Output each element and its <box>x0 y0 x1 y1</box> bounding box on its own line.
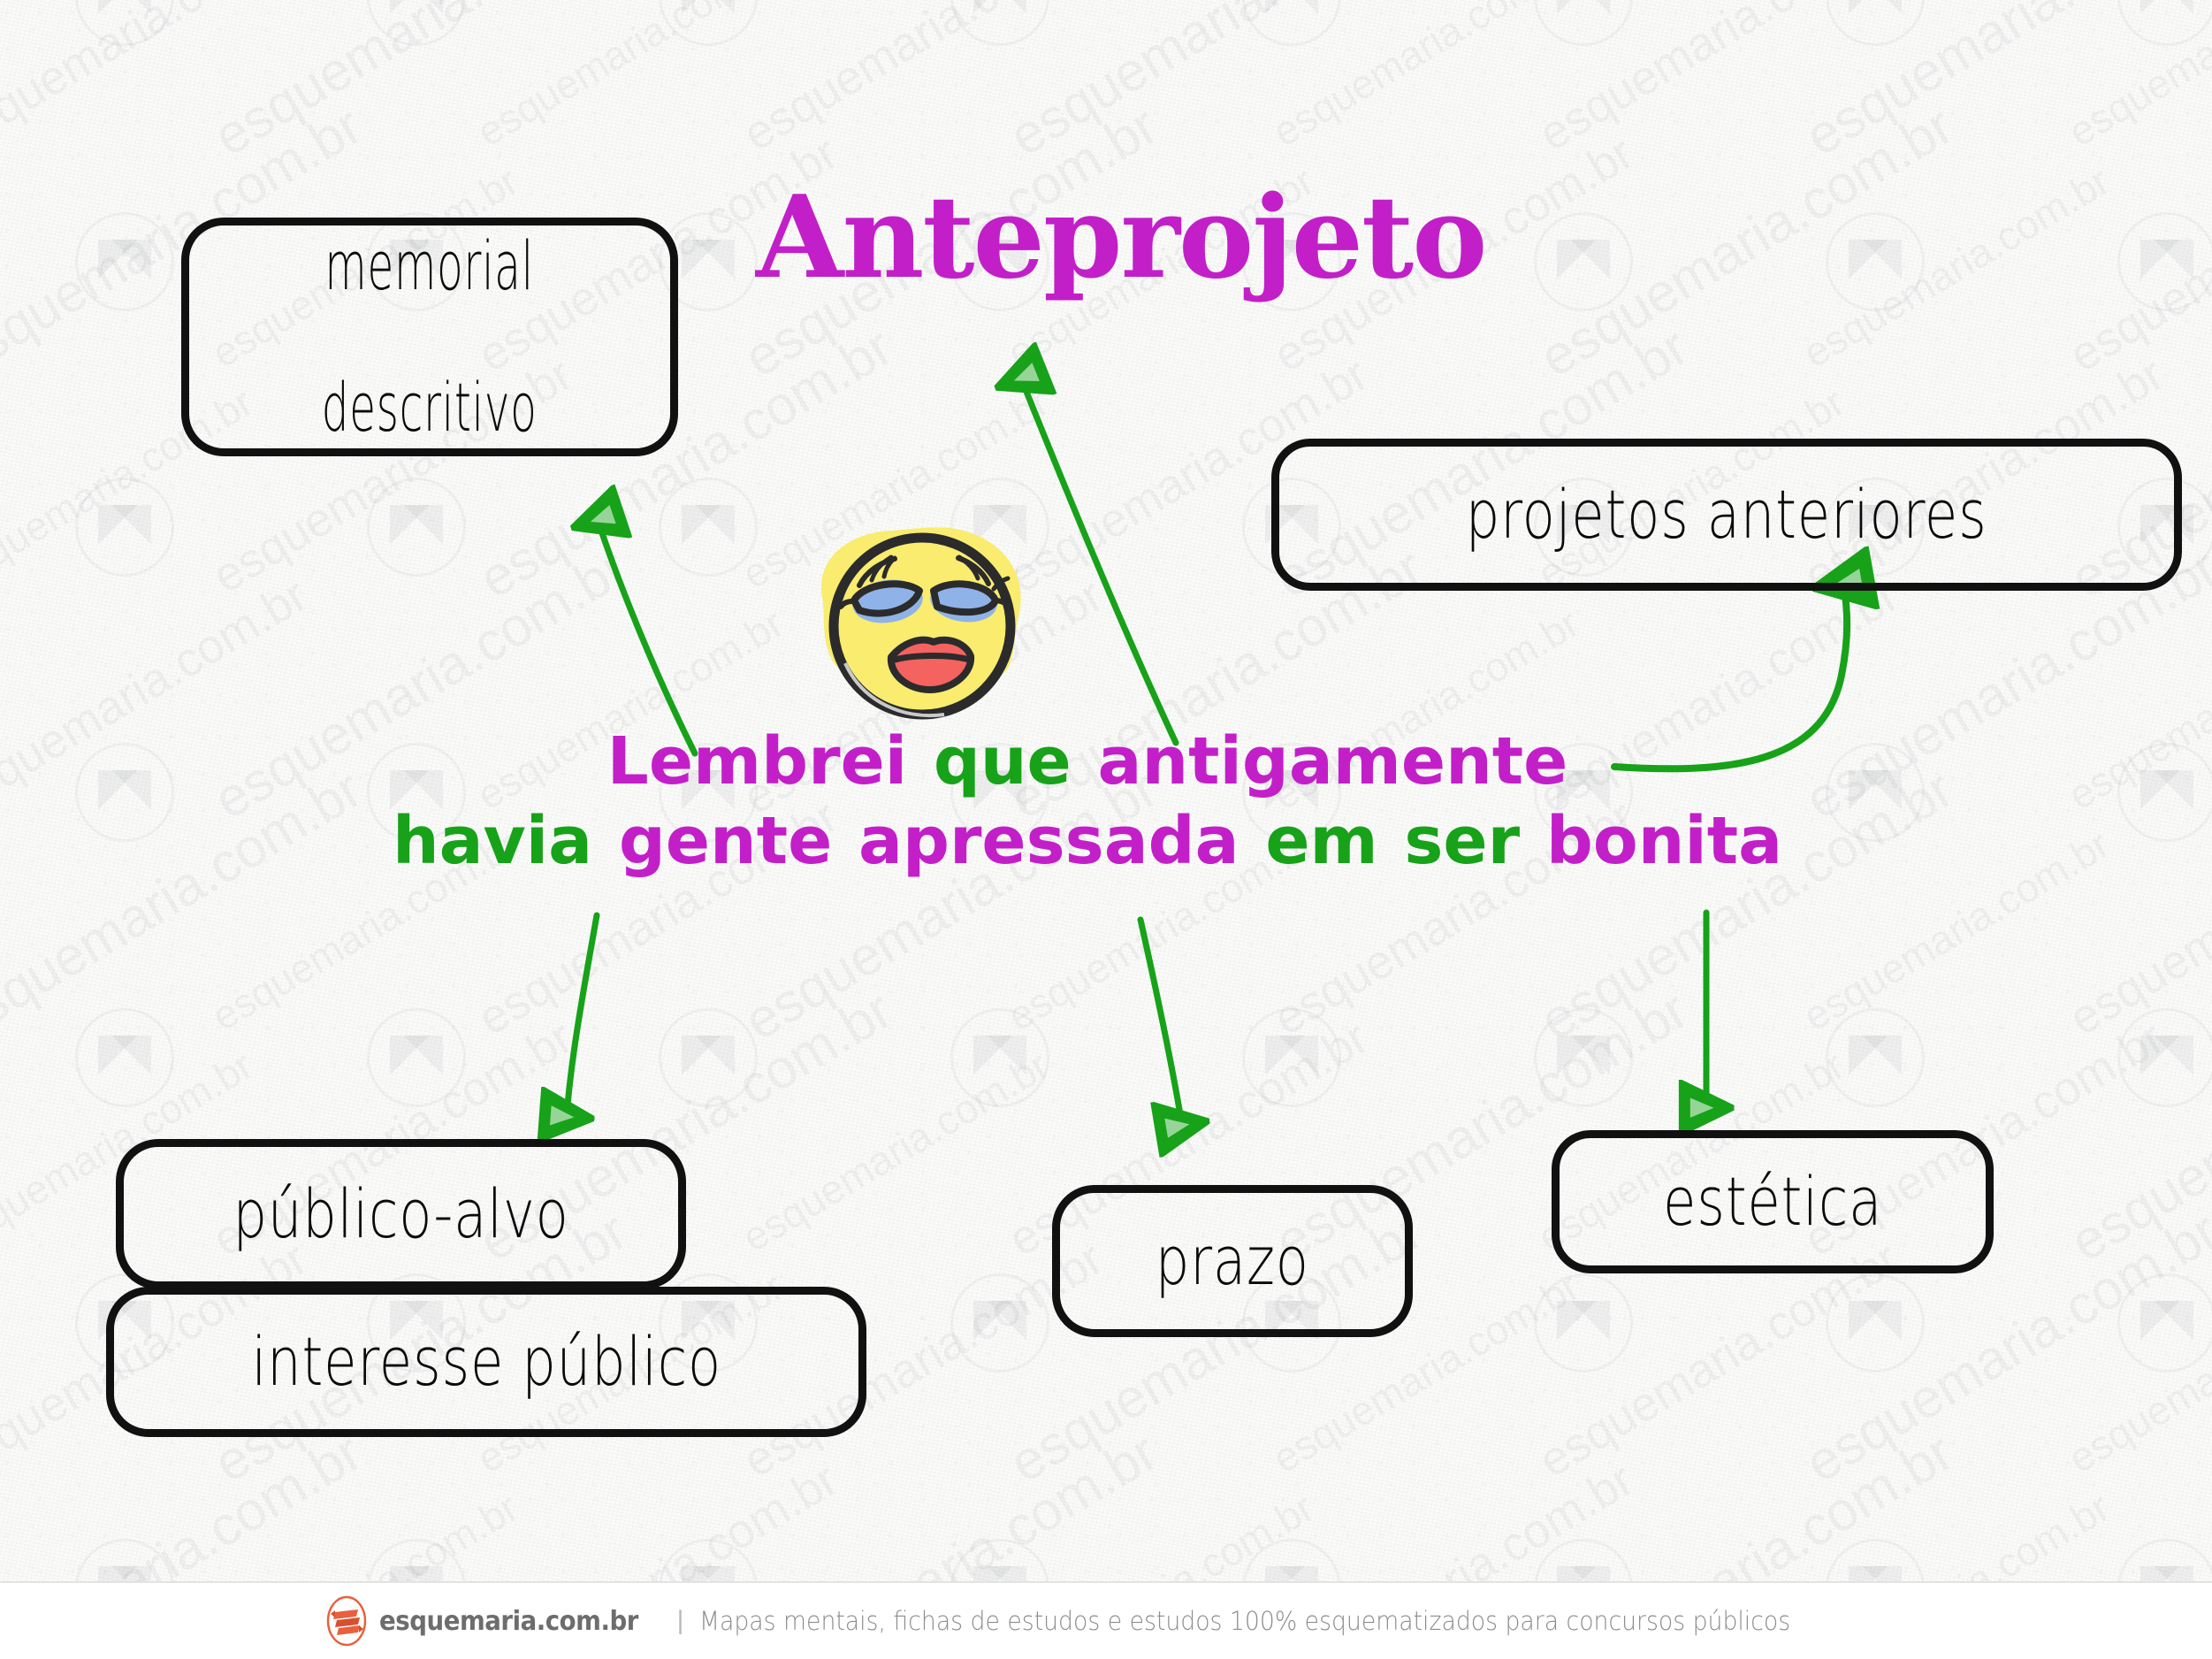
woman-face-with-makeup-emoji <box>796 513 1052 738</box>
node-prazo[interactable]: prazo <box>1052 1185 1413 1337</box>
esquemaria-ribbon-logo-icon <box>326 1595 367 1647</box>
mnemonic-word-antigamente: antigamente <box>1096 722 1570 801</box>
watermark-ring-logo <box>1826 0 1925 46</box>
watermark-ring-logo <box>1242 1008 1341 1107</box>
watermark-text: esquemaria.com.br <box>2060 126 2212 383</box>
node-memorial-descritivo-label: memorialdescritivo <box>295 231 565 442</box>
watermark-ring-logo <box>367 0 466 46</box>
watermark-ring-logo <box>659 1008 758 1107</box>
mnemonic-word-que: que <box>932 722 1073 801</box>
watermark-ring-logo <box>1534 1273 1633 1372</box>
mnemonic-word-bonita: bonita <box>1545 801 1784 881</box>
footer-brand-text: esquemaria.com.br <box>379 1606 638 1637</box>
node-projetos-anteriores-label: projetos anteriores <box>1466 479 1987 550</box>
watermark-text: esquemaria.com.br <box>2060 599 2212 819</box>
watermark-ring-logo <box>950 1008 1049 1107</box>
watermark-ring-logo <box>1534 0 1633 46</box>
node-publico-alvo-label: público-alvo <box>233 1179 568 1250</box>
mnemonic-line-2: havia gente apressada em ser bonita <box>292 801 1883 881</box>
mindmap-canvas: esquemaria.com.bresquemaria.com.bresquem… <box>0 0 2212 1659</box>
watermark-ring-logo <box>1242 0 1341 46</box>
watermark-text: esquemaria.com.br <box>734 0 1112 162</box>
mnemonic-word-apressada: apressada <box>857 801 1241 881</box>
watermark-ring-logo <box>367 1008 466 1107</box>
node-estetica-label: estética <box>1663 1166 1882 1237</box>
watermark-ring-logo <box>1534 1008 1633 1107</box>
watermark-ring-logo <box>1826 1273 1925 1372</box>
watermark-ring-logo <box>950 1273 1049 1372</box>
mnemonic-word-lembrei: Lembrei <box>606 722 909 801</box>
arrow-to-memorial <box>598 520 695 753</box>
watermark-ring-logo <box>1826 1008 1925 1107</box>
node-interesse-publico-label: interesse público <box>251 1326 721 1397</box>
watermark-ring-logo <box>75 743 174 842</box>
watermark-text: esquemaria.com.br <box>1529 95 1964 390</box>
node-interesse-publico[interactable]: interesse público <box>106 1287 866 1437</box>
watermark-text: esquemaria.com.br <box>1529 0 1908 162</box>
arrow-to-publico-alvo <box>567 915 597 1116</box>
watermark-ring-logo <box>2117 1008 2212 1107</box>
watermark-ring-logo <box>2117 0 2212 46</box>
watermark-ring-logo <box>659 0 758 46</box>
mnemonic-word-havia: havia <box>391 801 594 881</box>
node-memorial-descritivo[interactable]: memorialdescritivo <box>181 218 678 456</box>
watermark-text: esquemaria.com.br <box>2060 979 2212 1274</box>
footer-tagline: Mapas mentais, fichas de estudos e estud… <box>699 1606 1790 1636</box>
watermark-text: esquemaria.com.br <box>999 0 1433 169</box>
node-prazo-label: prazo <box>1156 1226 1309 1296</box>
watermark-text: esquemaria.com.br <box>2060 0 2212 156</box>
watermark-ring-logo <box>75 478 174 577</box>
mnemonic-sentence: Lembrei que antigamente havia gente apre… <box>292 722 1883 882</box>
watermark-ring-logo <box>75 212 174 311</box>
watermark-ring-logo <box>75 1008 174 1107</box>
mnemonic-word-gente: gente <box>617 801 834 881</box>
node-projetos-anteriores[interactable]: projetos anteriores <box>1271 439 2182 591</box>
watermark-ring-logo <box>367 478 466 577</box>
watermark-ring-logo <box>2117 743 2212 842</box>
watermark-text: esquemaria.com.br <box>2060 1262 2212 1482</box>
watermark-text: esquemaria.com.br <box>203 0 637 169</box>
watermark-text: esquemaria.com.br <box>469 0 791 156</box>
watermark-ring-logo <box>2117 212 2212 311</box>
watermark-ring-logo <box>1534 212 1633 311</box>
mnemonic-word-em: em <box>1263 801 1379 881</box>
watermark-text: esquemaria.com.br <box>1795 157 2117 377</box>
watermark-text: esquemaria.com.br <box>1795 0 2212 169</box>
watermark-text: esquemaria.com.br <box>0 568 317 825</box>
footer-bar: esquemaria.com.br | Mapas mentais, ficha… <box>0 1581 2212 1659</box>
watermark-ring-logo <box>659 478 758 577</box>
watermark-text: esquemaria.com.br <box>2060 789 2212 1046</box>
watermark-text: esquemaria.com.br <box>1264 0 1587 156</box>
watermark-ring-logo <box>950 0 1049 46</box>
node-estetica[interactable]: estética <box>1552 1130 1994 1273</box>
watermark-ring-logo <box>1826 212 1925 311</box>
watermark-text: esquemaria.com.br <box>734 1041 1056 1261</box>
watermark-ring-logo <box>2117 1273 2212 1372</box>
watermark-ring-logo <box>75 0 174 46</box>
node-publico-alvo[interactable]: público-alvo <box>116 1139 686 1289</box>
mnemonic-line-1: Lembrei que antigamente <box>292 722 1883 801</box>
footer-separator: | <box>677 1606 684 1636</box>
mnemonic-word-ser: ser <box>1402 801 1522 881</box>
watermark-text: esquemaria.com.br <box>0 0 317 162</box>
page-title: Anteprojeto <box>756 181 1486 294</box>
arrow-to-prazo <box>1140 920 1182 1125</box>
